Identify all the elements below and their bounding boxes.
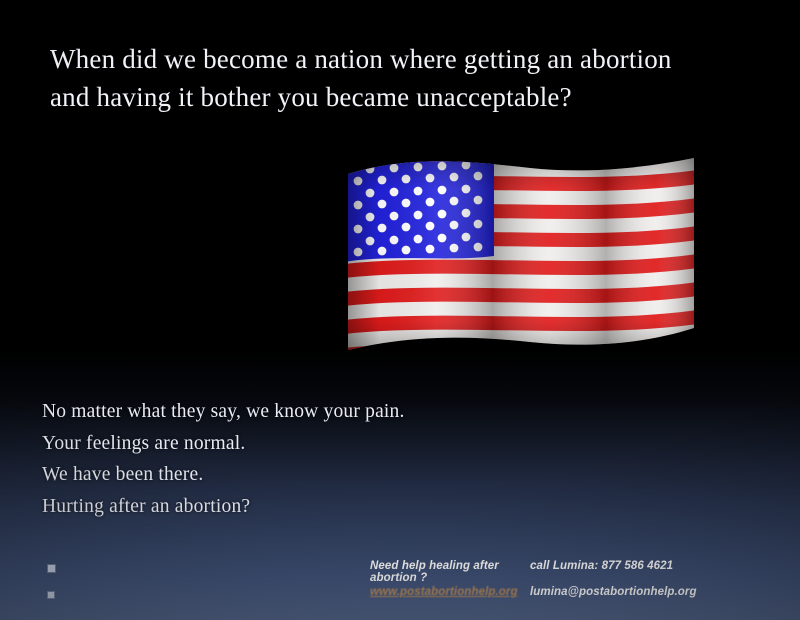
footer-phone-label: call Lumina: 877 586 4621 bbox=[530, 560, 790, 572]
website-link[interactable]: www.postabortionhelp.org bbox=[370, 586, 518, 598]
bullet-marker-1 bbox=[48, 565, 55, 572]
american-flag-image bbox=[344, 152, 698, 358]
bullet-marker-2 bbox=[48, 592, 54, 598]
body-line-2: Your feelings are normal. bbox=[42, 428, 522, 460]
footer-email: lumina@postabortionhelp.org bbox=[530, 586, 790, 598]
body-line-1: No matter what they say, we know your pa… bbox=[42, 396, 522, 428]
presentation-slide: When did we become a nation where gettin… bbox=[0, 0, 800, 620]
american-flag-icon bbox=[344, 152, 698, 358]
body-line-3: We have been there. bbox=[42, 459, 522, 491]
slide-title-line-2: and having it bother you became unaccept… bbox=[50, 78, 750, 116]
slide-body-text: No matter what they say, we know your pa… bbox=[42, 396, 522, 522]
footer-help-prompt: Need help healing after abortion ? bbox=[370, 560, 530, 584]
footer-contact-block: Need help healing after abortion ? call … bbox=[370, 560, 790, 612]
footer-row-2: www.postabortionhelp.org lumina@postabor… bbox=[370, 586, 790, 612]
slide-title: When did we become a nation where gettin… bbox=[50, 40, 750, 117]
footer-row-1: Need help healing after abortion ? call … bbox=[370, 560, 790, 586]
slide-title-line-1: When did we become a nation where gettin… bbox=[50, 40, 750, 78]
body-line-4: Hurting after an abortion? bbox=[42, 491, 522, 523]
